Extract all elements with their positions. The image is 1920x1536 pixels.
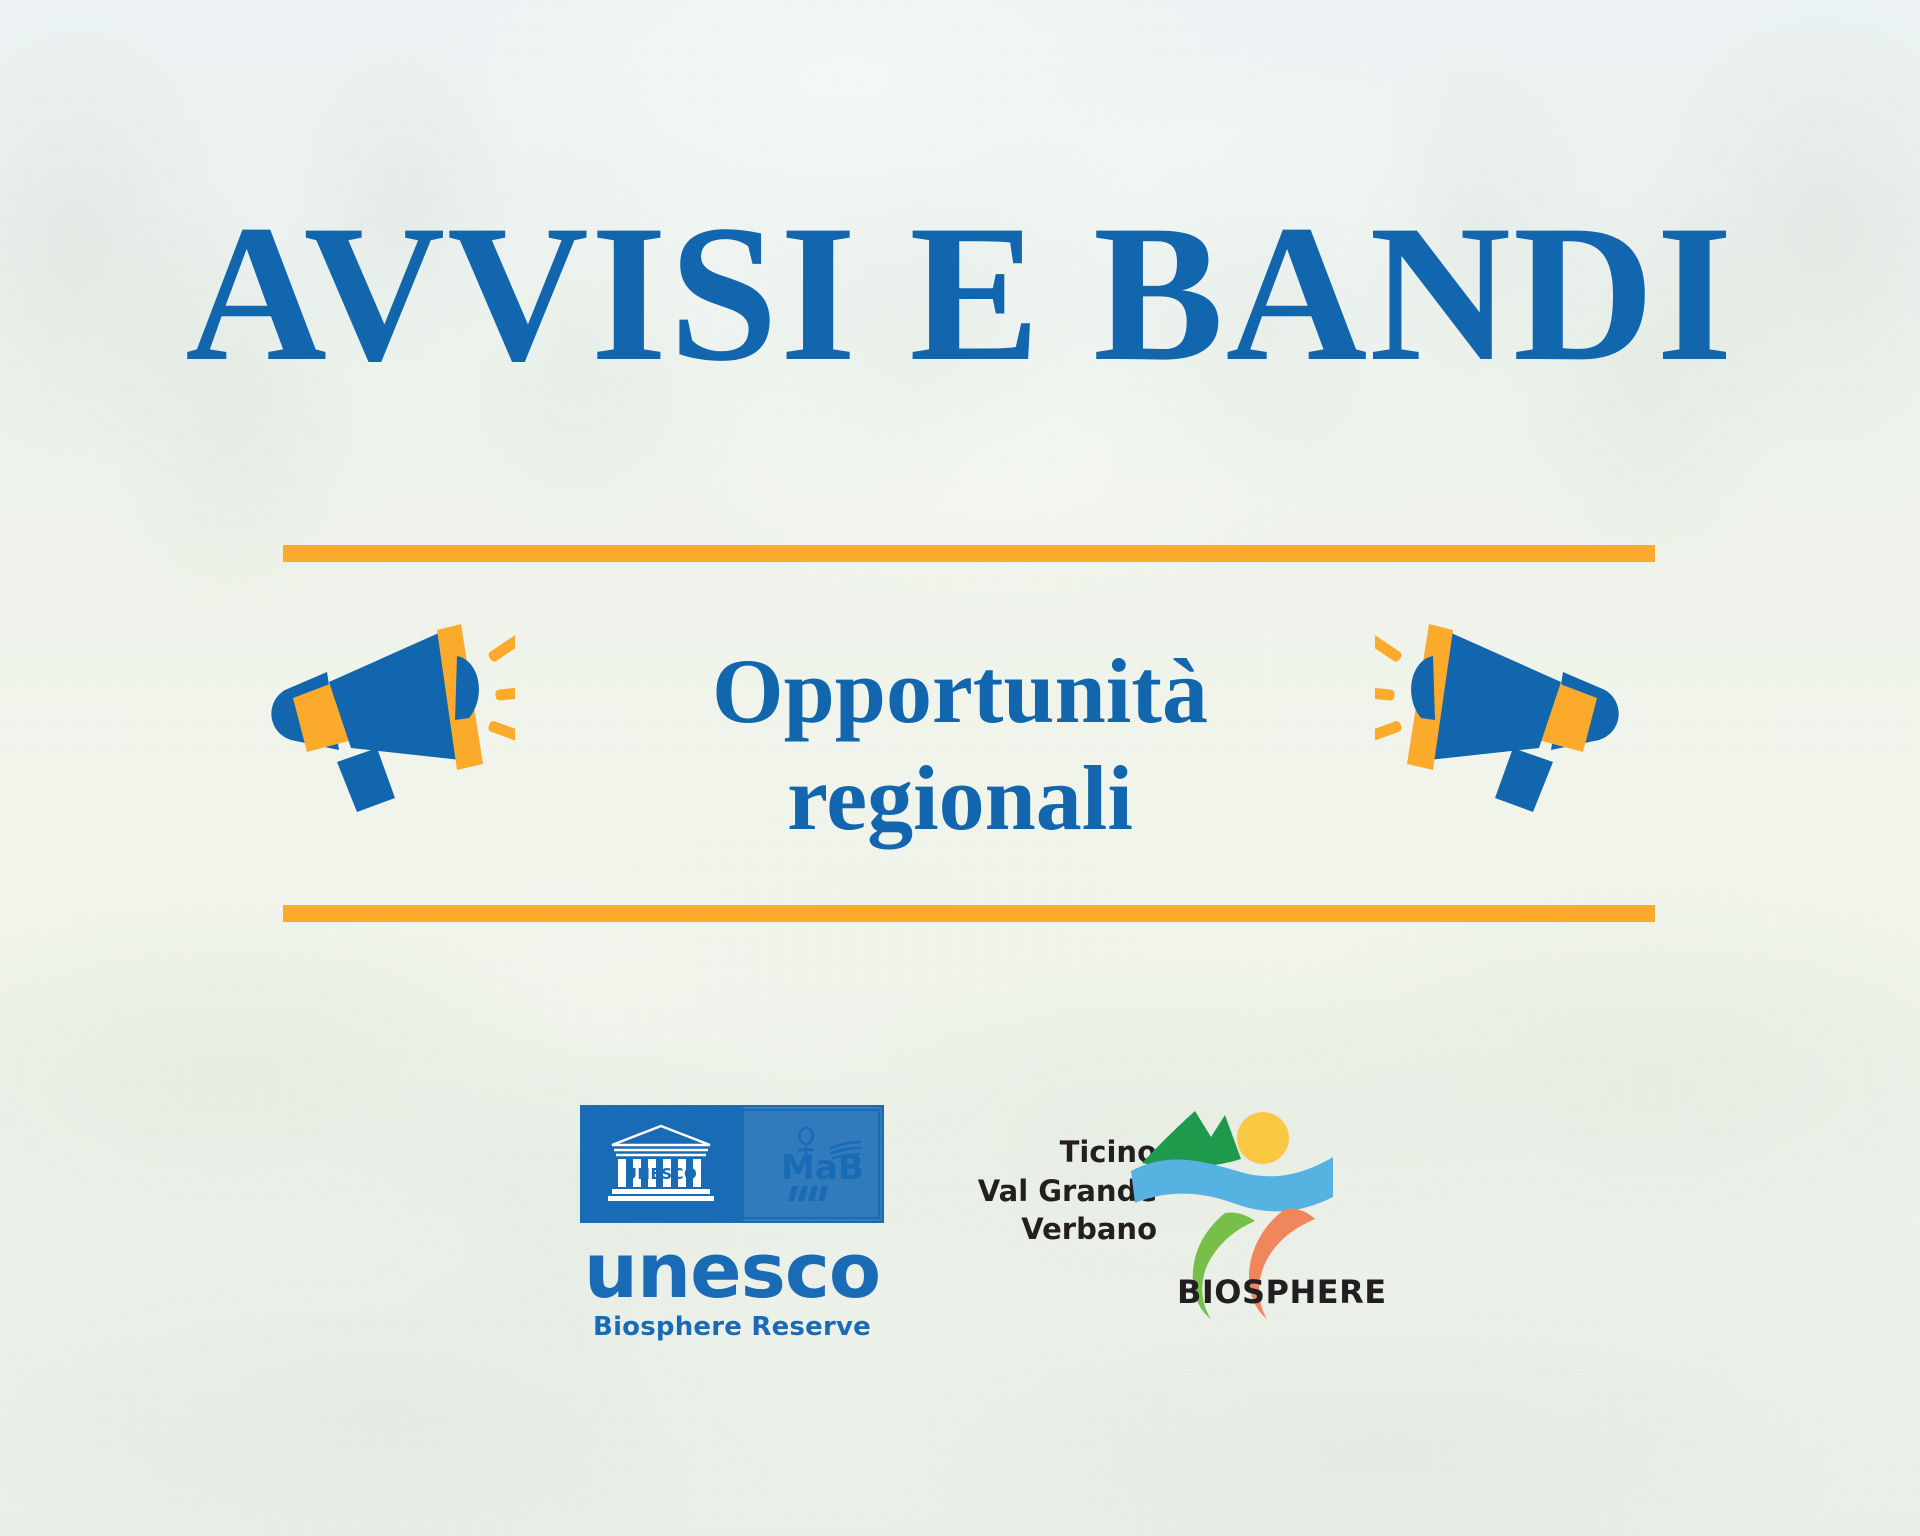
page-title: AVVISI E BANDI [0,196,1920,392]
unesco-temple-icon: UNESCO [582,1107,740,1221]
unesco-emblem: UNESCO MaB [580,1105,884,1223]
ticino-biosphere-label: BIOSPHERE [1177,1273,1387,1311]
divider-rule-top [283,545,1655,562]
unesco-logo: UNESCO MaB [573,1105,891,1342]
svg-text:UNESCO: UNESCO [625,1165,698,1183]
ticino-biosphere-logo: Ticino Val Grande Verbano [957,1105,1347,1335]
unesco-mab-icon: MaB [740,1107,882,1221]
unesco-tagline: Biosphere Reserve [593,1312,871,1342]
poster-canvas: AVVISI E BANDI [0,0,1920,1536]
unesco-wordmark: unesco [584,1235,880,1306]
divider-rule-bottom [283,905,1655,922]
logo-row: UNESCO MaB [0,1105,1920,1342]
megaphone-icon-right [1375,620,1635,820]
